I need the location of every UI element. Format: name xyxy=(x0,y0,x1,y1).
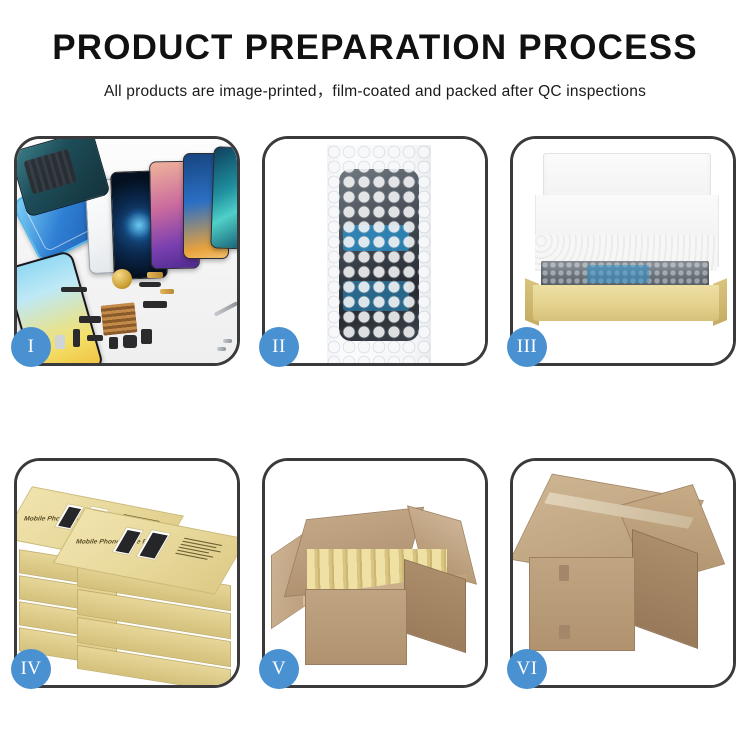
connector-grid-part xyxy=(101,302,138,335)
bubble-highlights xyxy=(327,145,431,363)
step-badge-5: V xyxy=(259,649,299,689)
spare-part xyxy=(143,301,167,308)
spare-part xyxy=(141,329,152,344)
spare-part xyxy=(73,329,80,347)
step-badge-6: VI xyxy=(507,649,547,689)
process-step-3: III xyxy=(510,136,736,366)
spare-part xyxy=(55,335,65,349)
step-1-image xyxy=(17,139,237,363)
step-5-image xyxy=(265,461,485,685)
carton-hand-hole xyxy=(559,565,569,581)
step-badge-2: II xyxy=(259,327,299,367)
spare-part xyxy=(223,339,232,343)
spare-part xyxy=(147,272,163,278)
step-badge-1: I xyxy=(11,327,51,367)
spare-part xyxy=(79,316,101,323)
spare-part xyxy=(139,282,161,287)
step-3-image xyxy=(513,139,733,363)
spare-part xyxy=(160,289,174,294)
carton-front-panel xyxy=(529,557,635,651)
teal-gradient-screen xyxy=(210,146,237,249)
step-6-image xyxy=(513,461,733,685)
step-badge-3: III xyxy=(507,327,547,367)
spare-part xyxy=(123,335,137,348)
spare-part xyxy=(217,347,226,351)
page-title: PRODUCT PREPARATION PROCESS xyxy=(0,30,750,65)
infographic-page: PRODUCT PREPARATION PROCESS All products… xyxy=(0,0,750,750)
process-step-1: I xyxy=(14,136,240,366)
spare-part xyxy=(109,337,118,349)
process-step-6: VI xyxy=(510,458,736,688)
process-step-grid: I II xyxy=(14,136,736,688)
carton-front-panel xyxy=(305,589,407,665)
process-step-4: Mobile Phone Spare Parts Mobile Phone Sp… xyxy=(14,458,240,688)
gold-coil-part xyxy=(112,269,132,289)
carton-hand-hole xyxy=(559,625,570,639)
page-subtitle: All products are image-printed，film-coat… xyxy=(0,79,750,101)
header: PRODUCT PREPARATION PROCESS All products… xyxy=(0,0,750,101)
process-step-2: II xyxy=(262,136,488,366)
step-badge-4: IV xyxy=(11,649,51,689)
spare-part xyxy=(61,287,87,292)
bubble-wrap-sheet xyxy=(327,145,431,363)
process-step-5: V xyxy=(262,458,488,688)
spare-part xyxy=(214,301,237,317)
step-2-image xyxy=(265,139,485,363)
step-4-image: Mobile Phone Spare Parts Mobile Phone Sp… xyxy=(17,461,237,685)
box-base-front xyxy=(533,285,719,321)
spare-part xyxy=(87,335,103,341)
